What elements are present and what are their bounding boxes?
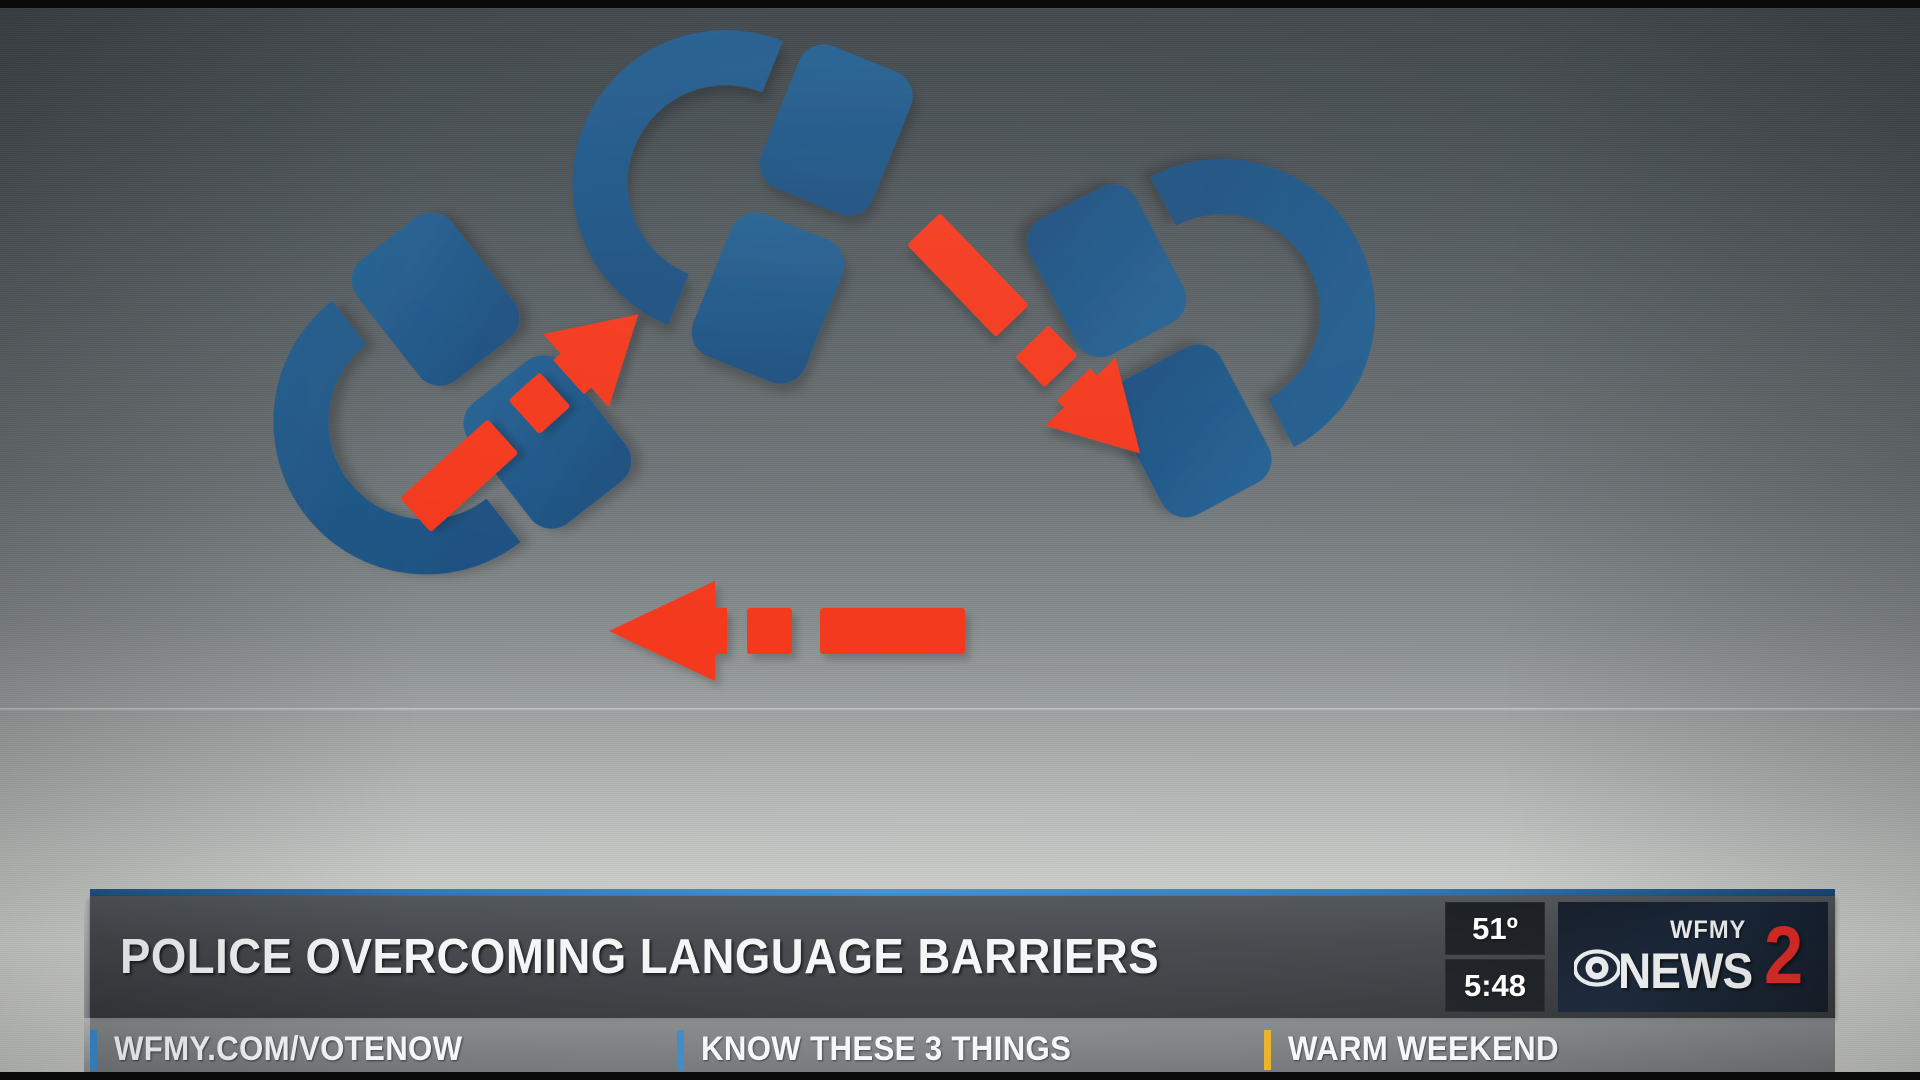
ticker-accent-bar (1264, 1030, 1271, 1070)
temperature-box: 51º (1445, 902, 1545, 955)
arrow-right-to-left (609, 581, 965, 681)
ticker-item-label: WARM WEEKEND (1288, 1030, 1559, 1069)
ticker-bar: WFMY.COM/VOTENOW KNOW THESE 3 THINGS WAR… (90, 1018, 1835, 1072)
channel-number: 2 (1764, 918, 1803, 993)
ticker-accent-bar (90, 1030, 97, 1070)
handset-left (203, 202, 642, 648)
station-logo-inner: WFMY NEWS 2 (1572, 912, 1818, 1004)
ticker-item-label: WFMY.COM/VOTENOW (114, 1030, 462, 1069)
lower-third-banner: POLICE OVERCOMING LANGUAGE BARRIERS 51º … (90, 896, 1835, 1018)
clock-box: 5:48 (1445, 959, 1545, 1012)
headline: POLICE OVERCOMING LANGUAGE BARRIERS (120, 896, 1237, 1018)
ticker-item-label: KNOW THESE 3 THINGS (701, 1030, 1071, 1069)
ticker-item-2: WARM WEEKEND (1264, 1018, 1835, 1072)
ticker-item-0: WFMY.COM/VOTENOW (90, 1018, 677, 1072)
ticker-accent-bar (677, 1030, 684, 1070)
callsign-text: WFMY (1670, 916, 1746, 945)
video-frame: POLICE OVERCOMING LANGUAGE BARRIERS 51º … (0, 8, 1920, 1072)
ticker-item-1: KNOW THESE 3 THINGS (677, 1018, 1264, 1072)
station-logo: WFMY NEWS 2 (1558, 902, 1828, 1012)
temperature-value: 51º (1472, 911, 1518, 947)
handset-right (1018, 93, 1436, 527)
weather-clock-stack: 51º 5:48 (1445, 902, 1545, 1012)
clock-value: 5:48 (1464, 968, 1526, 1004)
cbs-eye-icon (1574, 948, 1620, 988)
brand-text: NEWS (1618, 942, 1752, 1000)
headline-text: POLICE OVERCOMING LANGUAGE BARRIERS (120, 929, 1159, 985)
broadcast-screenshot: POLICE OVERCOMING LANGUAGE BARRIERS 51º … (0, 0, 1920, 1080)
